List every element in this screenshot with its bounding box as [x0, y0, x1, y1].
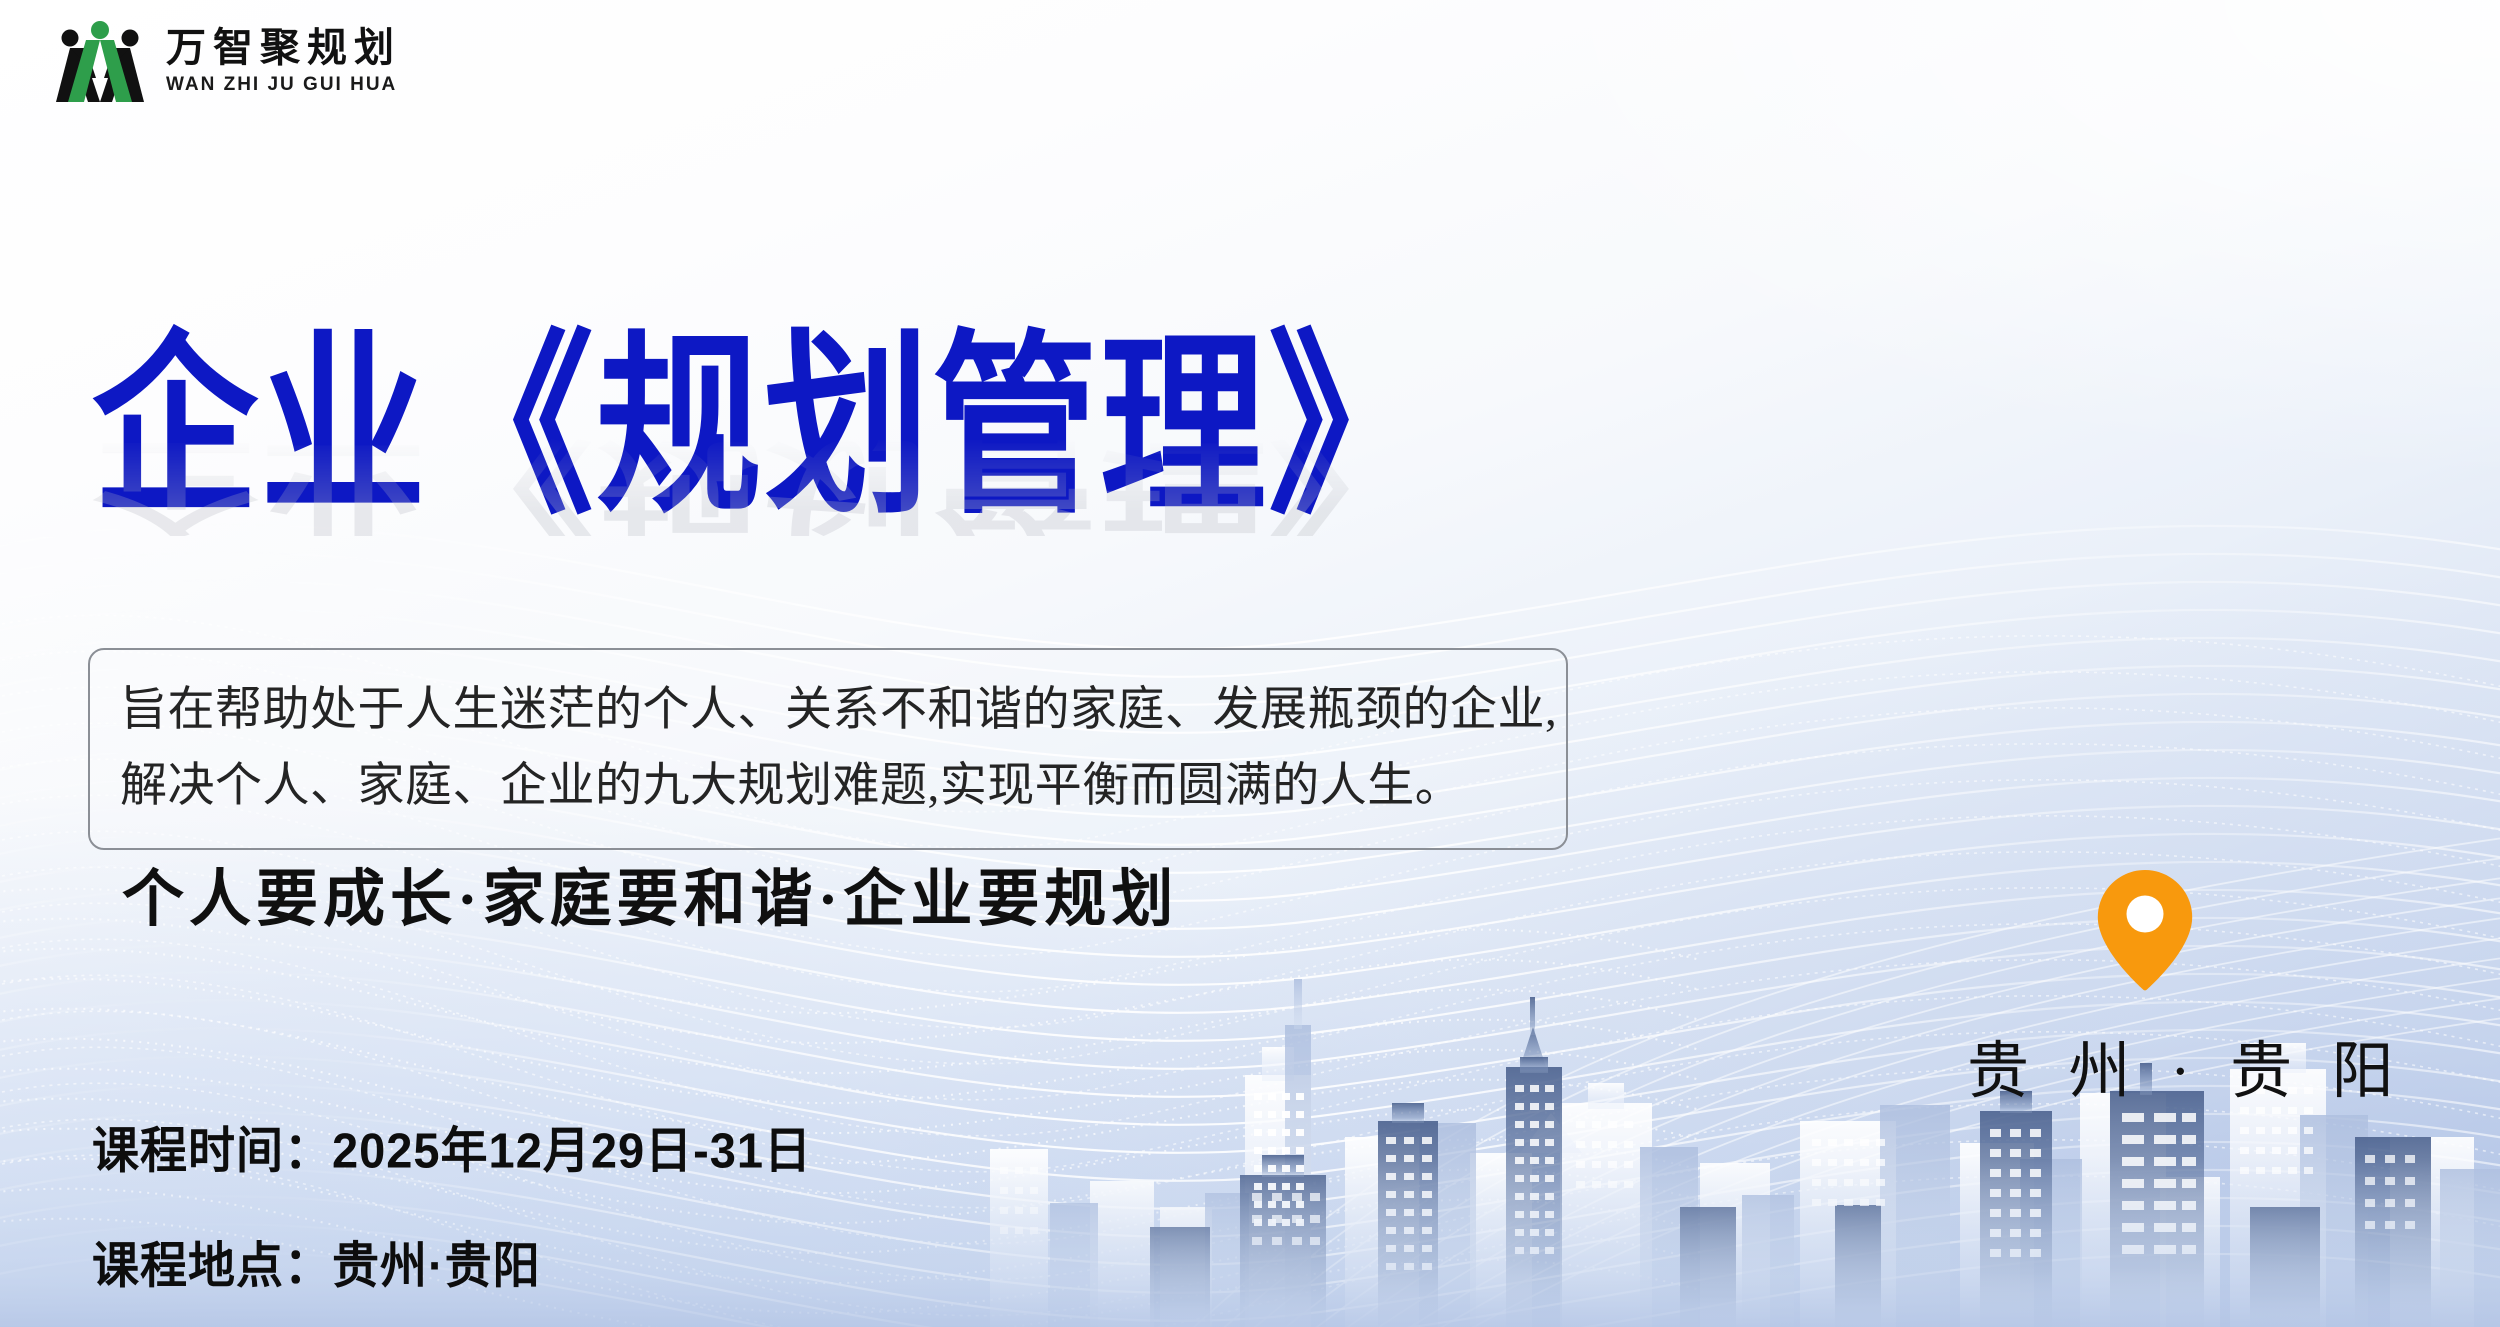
map-pin-icon	[2093, 866, 2197, 994]
location-label: 贵 州 · 贵 阳	[1955, 1020, 2335, 1110]
three-people-logo-icon	[52, 18, 148, 104]
course-time: 课程时间：2025年12月29日-31日	[92, 1110, 812, 1182]
brand-logo-text: 万智聚规划 WAN ZHI JU GUI HUA	[166, 28, 401, 94]
brand-name-cn: 万智聚规划	[166, 28, 401, 68]
description-line-1: 旨在帮助处于人生迷茫的个人、关系不和谐的家庭、发展瓶颈的企业,	[120, 672, 1536, 748]
description-box: 旨在帮助处于人生迷茫的个人、关系不和谐的家庭、发展瓶颈的企业, 解决个人、家庭、…	[88, 648, 1568, 850]
hero-title-block: 企业《规划管理》 企业《规划管理》	[92, 330, 1436, 496]
slogan-text: 个人要成长·家庭要和谐·企业要规划	[122, 848, 1178, 938]
course-place: 课程地点：贵州·贵阳	[92, 1225, 812, 1297]
brand-name-pinyin: WAN ZHI JU GUI HUA	[166, 75, 401, 94]
brand-logo: 万智聚规划 WAN ZHI JU GUI HUA	[52, 18, 401, 104]
course-info-block: 课程时间：2025年12月29日-31日 课程地点：贵州·贵阳	[92, 1110, 812, 1294]
page-title-reflection: 企业《规划管理》	[92, 433, 1436, 536]
description-line-2: 解决个人、家庭、企业的九大规划难题,实现平衡而圆满的人生。	[120, 748, 1536, 824]
poster-canvas: 万智聚规划 WAN ZHI JU GUI HUA 企业《规划管理》 企业《规划管…	[0, 0, 2500, 1327]
location-badge: 贵 州 · 贵 阳	[1955, 866, 2335, 1110]
